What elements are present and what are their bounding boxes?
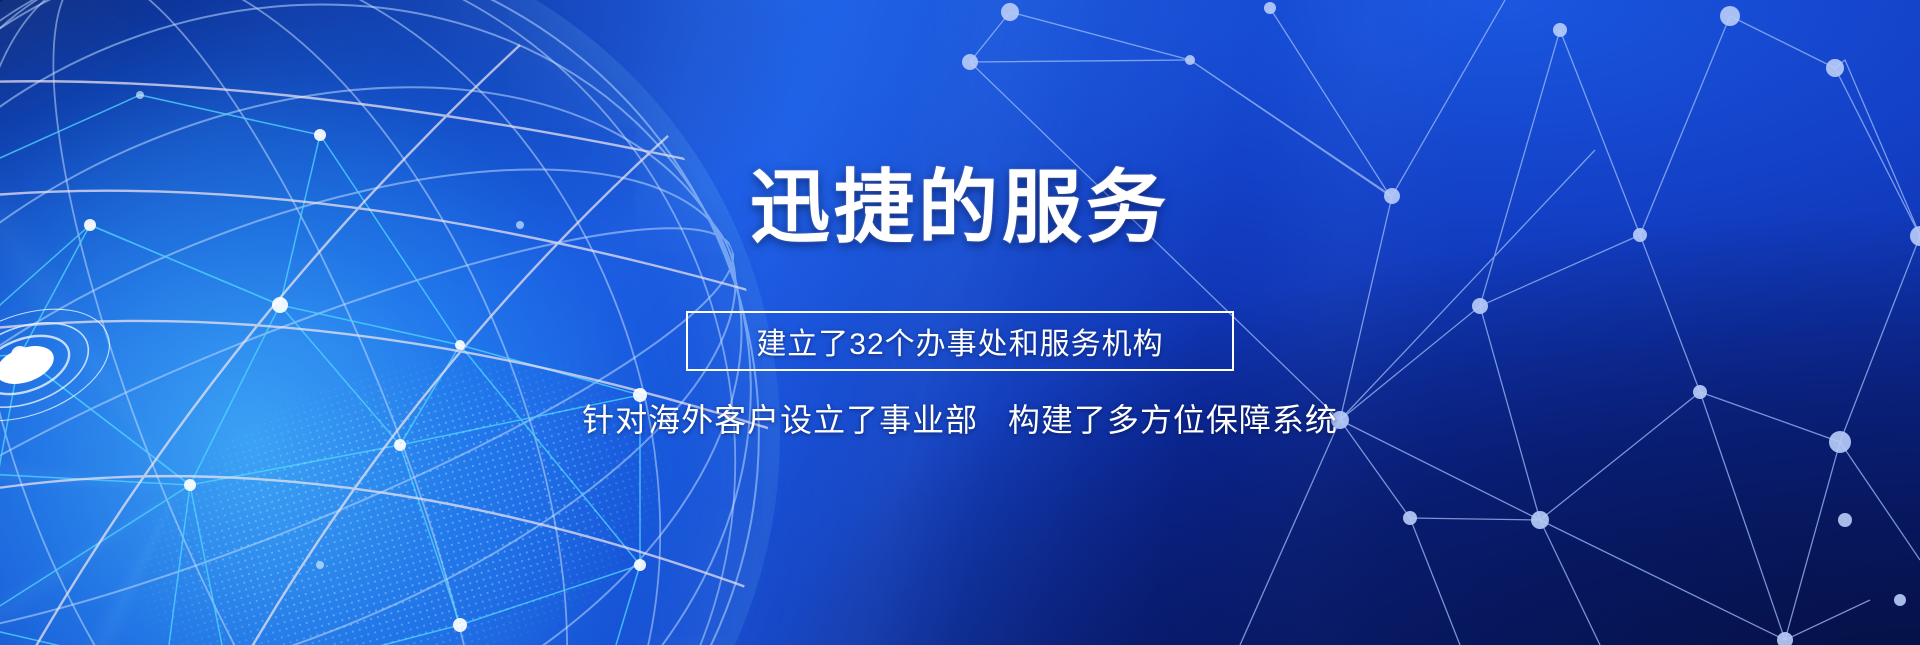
subtitle-box-text: 建立了32个办事处和服务机构	[756, 319, 1163, 363]
banner-content: 迅捷的服务 建立了32个办事处和服务机构 针对海外客户设立了事业部 构建了多方位…	[0, 0, 1920, 645]
tagline-text: 针对海外客户设立了事业部 构建了多方位保障系统	[0, 395, 1920, 441]
hero-banner: 迅捷的服务 建立了32个办事处和服务机构 针对海外客户设立了事业部 构建了多方位…	[0, 0, 1920, 645]
page-title: 迅捷的服务	[0, 168, 1920, 248]
subtitle-box: 建立了32个办事处和服务机构	[686, 311, 1234, 371]
